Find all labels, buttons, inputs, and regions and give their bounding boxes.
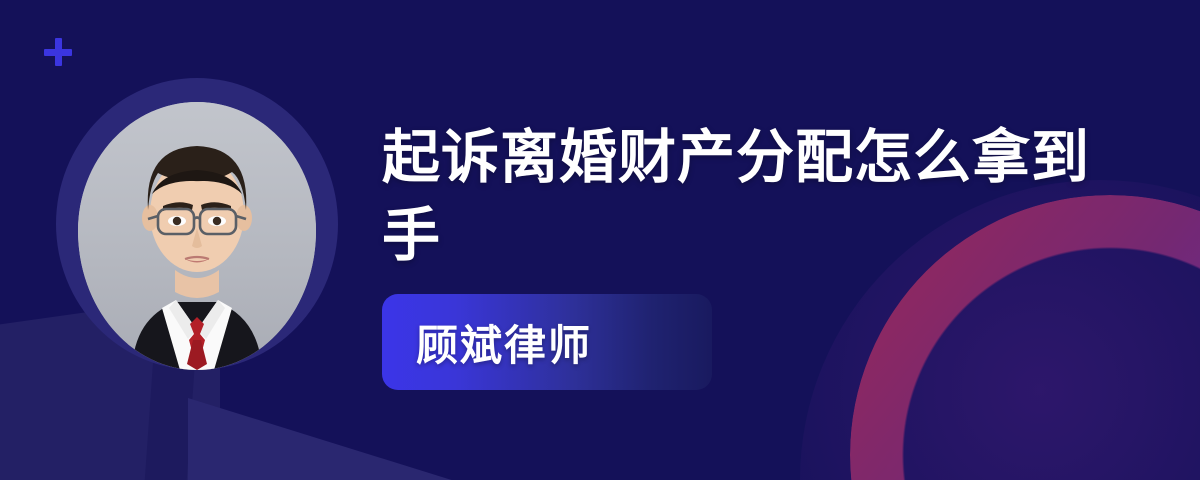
headline-block: 起诉离婚财产分配怎么拿到手 — [382, 118, 1102, 274]
triangle-wedge-shape — [188, 398, 458, 480]
lawyer-name-button[interactable]: 顾斌律师 — [382, 294, 712, 390]
plus-icon — [44, 38, 72, 66]
lawyer-name-label: 顾斌律师 — [416, 312, 592, 373]
lawyer-topic-banner: 起诉离婚财产分配怎么拿到手 顾斌律师 — [0, 0, 1200, 480]
avatar-photo — [78, 102, 316, 370]
avatar — [56, 78, 338, 370]
portrait-illustration — [78, 102, 316, 370]
page-title: 起诉离婚财产分配怎么拿到手 — [382, 118, 1102, 274]
